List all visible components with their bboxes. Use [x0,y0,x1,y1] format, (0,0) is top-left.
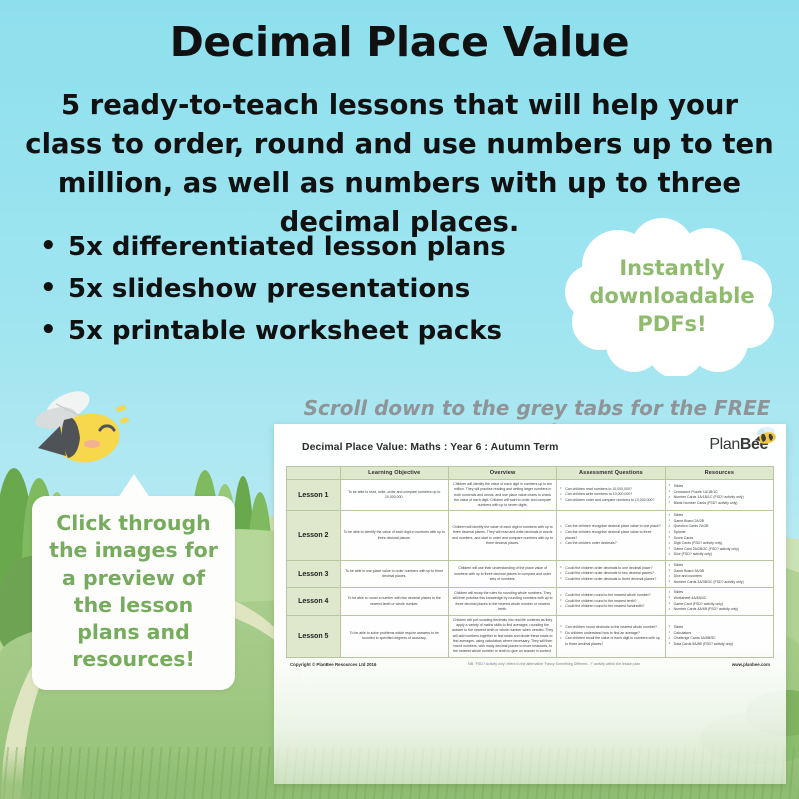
footer-copyright: Copyright © PlanBee Resources Ltd 2016 [290,662,376,667]
table-row: Lesson 4To be able to round a number wit… [287,588,774,615]
learning-objective-cell: To be able to solve problems which requi… [340,615,448,657]
brand-part-1: Plan [709,436,739,453]
list-item: Can children recall the value of each di… [560,636,661,647]
page-title: Decimal Place Value [0,18,799,66]
list-item: 5x slideshow presentations [36,268,556,310]
resources-cell: SlidesGame Board 2A/2BQuestion Cards 2A/… [665,511,773,561]
planbee-logo: PlanBee [709,434,774,454]
resources-cell: SlidesWorksheet 4A/4B/4CGame Card (FSD? … [665,588,773,615]
cloud-line-3: PDFs! [637,311,706,339]
resources-cell: SlidesGame Board 3A/3BDice and countersN… [665,561,773,588]
list-item: 5x printable worksheet packs [36,310,556,352]
document-header: Decimal Place Value: Maths : Year 6 : Au… [286,434,774,464]
cloud-badge: Instantly downloadable PDFs! [558,218,786,376]
list-item: Data Cards 5A/5B (FSD? activity only) [669,642,770,648]
cloud-line-1: Instantly [619,255,724,283]
footer-note: NB: 'FSD? Activity only' refers to the a… [468,662,640,666]
overview-cell: Children will identify the value of each… [448,511,556,561]
list-item: Can children order and compare numbers t… [560,498,661,504]
column-header-assessment-questions: Assessment Questions [557,467,665,480]
lesson-label: Lesson 3 [287,561,341,588]
learning-objective-cell: To be able to round a number with two de… [340,588,448,615]
learning-objective-cell: To be able to read, write, order and com… [340,480,448,511]
lesson-overview-table: Learning Objective Overview Assessment Q… [286,466,774,658]
overview-document-preview[interactable]: Decimal Place Value: Maths : Year 6 : Au… [274,424,786,784]
assessment-questions-cell: Can the children recognise decimal place… [557,511,665,561]
feature-list: 5x differentiated lesson plans 5x slides… [36,226,556,352]
lesson-label: Lesson 4 [287,588,341,615]
list-item: Could the children order decimals to thr… [560,577,661,583]
list-item: Can the children recognise decimal place… [560,530,661,541]
assessment-questions-cell: Can children read numbers to 10,000,000?… [557,480,665,511]
assessment-questions-cell: Could the children order decimals to one… [557,561,665,588]
lesson-label: Lesson 1 [287,480,341,511]
list-item: Dice (FSD? activity only) [669,552,770,558]
column-header-resources: Resources [665,467,773,480]
learning-objective-cell: To be able to use place value to order n… [340,561,448,588]
cloud-badge-text: Instantly downloadable PDFs! [558,218,786,376]
document-footer: Copyright © PlanBee Resources Ltd 2016 N… [286,662,774,667]
table-row: Lesson 1To be able to read, write, order… [287,480,774,511]
list-item: Number Cards 3A/3B/3C (FSD? activity onl… [669,580,770,586]
overview-cell: Children will put rounding decimals into… [448,615,556,657]
assessment-questions-cell: Could the children round to the nearest … [557,588,665,615]
table-header-row: Learning Objective Overview Assessment Q… [287,467,774,480]
list-item: Could the children round to the nearest … [560,604,661,610]
poster-canvas: Decimal Place Value 5 ready-to-teach les… [0,0,799,799]
bee-icon [754,427,778,445]
column-header-blank [287,467,341,480]
resources-cell: SlidesCrossword Puzzle 1A/1B/1CNumber Ca… [665,480,773,511]
lesson-label: Lesson 5 [287,615,341,657]
overview-cell: Children will identify the value of each… [448,480,556,511]
list-item: Blank Number Cards (FSD? activity only) [669,501,770,507]
table-row: Lesson 2To be able to identify the value… [287,511,774,561]
learning-objective-cell: To be able to identify the value of each… [340,511,448,561]
overview-cell: Children will recap the rules for roundi… [448,588,556,615]
table-row: Lesson 3To be able to use place value to… [287,561,774,588]
resources-cell: SlidesCalculatorsChallenge Cards 5A/5B/5… [665,615,773,657]
assessment-questions-cell: Can children round decimals to the neare… [557,615,665,657]
document-title: Decimal Place Value: Maths : Year 6 : Au… [286,434,558,453]
list-item: 5x differentiated lesson plans [36,226,556,268]
bee-icon [26,382,134,478]
cloud-line-2: downloadable [589,283,754,311]
callout-bubble: Click through the images for a preview o… [32,496,235,690]
column-header-overview: Overview [448,467,556,480]
footer-website[interactable]: www.planbee.com [732,662,770,667]
list-item: Number Cards 4A/4B (FSD? activity only) [669,607,770,613]
lesson-label: Lesson 2 [287,511,341,561]
overview-cell: Children will use their understanding of… [448,561,556,588]
table-row: Lesson 5To be able to solve problems whi… [287,615,774,657]
column-header-learning-objective: Learning Objective [340,467,448,480]
table-body: Lesson 1To be able to read, write, order… [287,480,774,658]
list-item: Can the children order decimals? [560,541,661,547]
